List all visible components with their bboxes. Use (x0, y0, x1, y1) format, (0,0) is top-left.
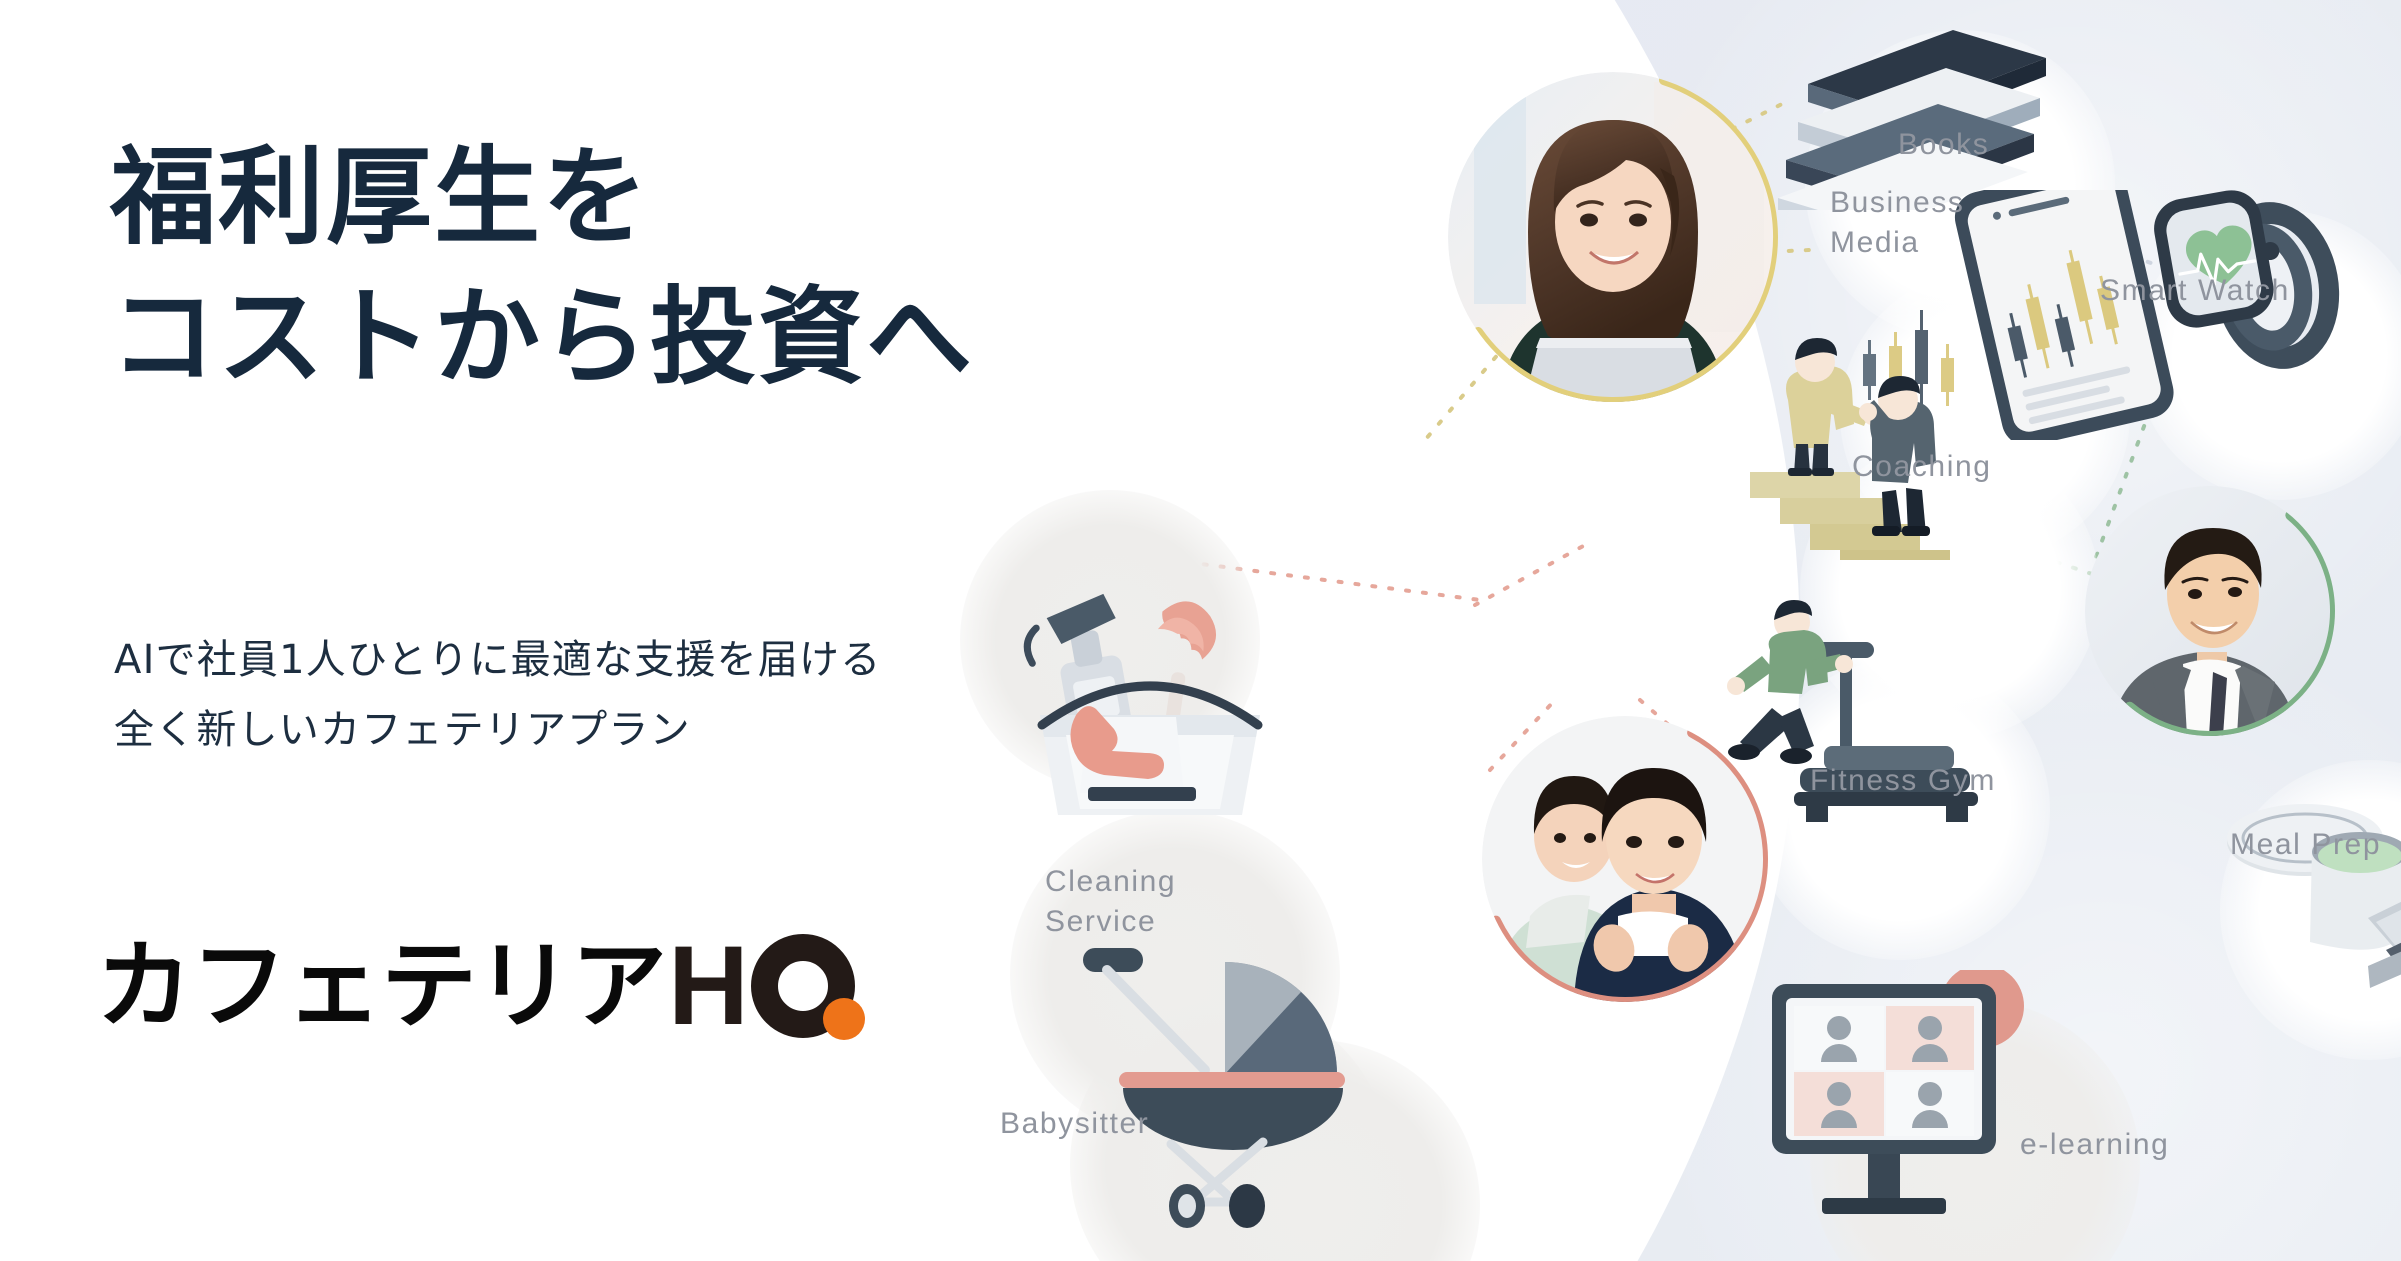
benefits-network-illustration: Books (1190, 0, 2401, 1261)
label-e-learning: e-learning (2020, 1126, 2169, 1164)
q-ring-icon (751, 934, 859, 1038)
avatar-businessman (2085, 486, 2335, 736)
logo-kana-text: カフェテリア (96, 938, 666, 1034)
brand-logo[interactable]: カフェテリア H (96, 930, 859, 1042)
label-fitness-gym: Fitness Gym (1810, 762, 1996, 800)
label-meal-prep: Meal Prep (2230, 826, 2381, 864)
headline-line-2: コストから投資へ (110, 268, 1170, 408)
label-smart-watch: Smart Watch (2100, 272, 2290, 310)
avatar-woman-laptop (1448, 72, 1778, 402)
cleaning-bucket-icon (980, 575, 1320, 835)
hero-banner: 福利厚生を コストから投資へ AIで社員1人ひとりに最適な支援を届ける 全く新し… (0, 0, 2401, 1261)
meal-containers-icon (2190, 790, 2401, 1010)
baby-stroller-icon (1075, 930, 1415, 1230)
label-babysitter: Babysitter (1000, 1105, 1149, 1143)
label-books: Books (1898, 126, 1989, 164)
logo-hq: H (668, 930, 859, 1042)
label-coaching: Coaching (1852, 448, 1992, 486)
headline-line-1: 福利厚生を (110, 128, 1170, 268)
stack-of-books-icon (1778, 10, 2068, 210)
two-people-stairs-icon (1730, 280, 2060, 560)
label-business-media: Business Media (1830, 183, 1965, 263)
orange-dot-icon (823, 998, 865, 1040)
page-title: 福利厚生を コストから投資へ (110, 128, 1170, 408)
logo-letter-h: H (668, 930, 745, 1042)
avatar-mother-child (1482, 716, 1768, 1002)
monitor-video-call-icon (1750, 970, 2070, 1240)
